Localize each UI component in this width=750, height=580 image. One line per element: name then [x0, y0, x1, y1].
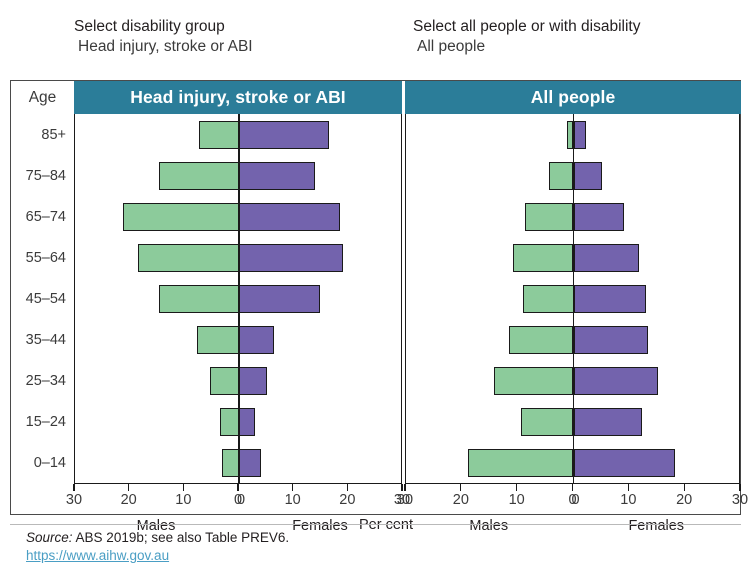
female-bar[interactable] — [239, 408, 255, 436]
disability-group-selector[interactable]: Select disability group Head injury, str… — [74, 17, 253, 57]
pyramid-row — [406, 408, 739, 436]
axis-tick — [516, 484, 517, 491]
axis-tick — [628, 484, 629, 491]
male-bar[interactable] — [468, 449, 574, 477]
male-bar[interactable] — [509, 326, 574, 354]
panel-title-right: All people — [405, 81, 741, 114]
axis-tick-label: 0 — [571, 492, 579, 508]
axis-tick-label: 30 — [397, 492, 413, 508]
x-axis-left: 30201000102030MalesFemales — [11, 484, 403, 496]
pyramid-row — [406, 244, 739, 272]
axis-tick-label: 30 — [66, 492, 82, 508]
axis-tick-label: 10 — [509, 492, 525, 508]
male-bar[interactable] — [210, 367, 239, 395]
males-axis-label: Males — [469, 518, 508, 534]
axis-tick-label: 0 — [237, 492, 245, 508]
pyramid-row — [406, 121, 739, 149]
axis-tick-label: 10 — [285, 492, 301, 508]
chart-page: Select disability group Head injury, str… — [0, 0, 750, 580]
chart-panel-all-people: 30201000102030MalesFemales — [403, 114, 741, 515]
pyramid-row — [406, 326, 739, 354]
female-bar[interactable] — [239, 203, 340, 231]
axis-tick-label: 10 — [175, 492, 191, 508]
pyramid-row — [406, 367, 739, 395]
population-label: Select all people or with disability — [413, 17, 640, 37]
male-bar[interactable] — [220, 408, 239, 436]
female-bar[interactable] — [574, 244, 639, 272]
female-bar[interactable] — [239, 162, 315, 190]
male-bar[interactable] — [197, 326, 239, 354]
female-bar[interactable] — [574, 449, 676, 477]
plot-area-left — [74, 114, 402, 484]
axis-tick — [572, 484, 573, 491]
axis-tick — [73, 484, 74, 491]
pyramid-row — [406, 449, 739, 477]
pyramid-row — [75, 449, 401, 477]
male-bar[interactable] — [521, 408, 573, 436]
female-bar[interactable] — [239, 244, 343, 272]
male-bar[interactable] — [199, 121, 239, 149]
male-bar[interactable] — [123, 203, 239, 231]
source-link[interactable]: https://www.aihw.gov.au — [26, 548, 169, 563]
axis-tick-label: 20 — [676, 492, 692, 508]
axis-tick-label: 10 — [620, 492, 636, 508]
chart-panel-head-injury: 30201000102030MalesFemales — [11, 114, 403, 515]
axis-tick-label: 30 — [732, 492, 748, 508]
pyramid-row — [75, 285, 401, 313]
plot-area-right — [405, 114, 740, 484]
females-axis-label: Females — [628, 518, 684, 534]
source-text: ABS 2019b; see also Table PREV6. — [76, 530, 290, 545]
male-bar[interactable] — [513, 244, 573, 272]
pyramid-row — [75, 367, 401, 395]
source-note: Source: ABS 2019b; see also Table PREV6. — [26, 530, 289, 545]
female-bar[interactable] — [574, 326, 649, 354]
male-bar[interactable] — [494, 367, 573, 395]
age-header: Age — [11, 81, 74, 114]
male-bar[interactable] — [222, 449, 239, 477]
axis-tick — [347, 484, 348, 491]
axis-tick — [739, 484, 740, 491]
disability-group-label: Select disability group — [74, 17, 253, 37]
female-bar[interactable] — [574, 285, 647, 313]
axis-tick — [237, 484, 238, 491]
female-bar[interactable] — [239, 121, 329, 149]
axis-tick — [128, 484, 129, 491]
axis-tick — [404, 484, 405, 491]
female-bar[interactable] — [239, 285, 320, 313]
male-bar[interactable] — [159, 162, 239, 190]
pyramid-row — [75, 244, 401, 272]
pyramid-row — [75, 203, 401, 231]
pyramid-row — [406, 285, 739, 313]
axis-tick-label: 20 — [453, 492, 469, 508]
axis-tick — [460, 484, 461, 491]
axis-tick-label: 20 — [121, 492, 137, 508]
female-bar[interactable] — [239, 367, 267, 395]
pyramid-row — [75, 326, 401, 354]
female-bar[interactable] — [574, 121, 586, 149]
selector-bar: Select disability group Head injury, str… — [0, 0, 750, 74]
axis-tick — [183, 484, 184, 491]
male-bar[interactable] — [523, 285, 573, 313]
pyramid-row — [75, 121, 401, 149]
male-bar[interactable] — [525, 203, 574, 231]
male-bar[interactable] — [159, 285, 239, 313]
pyramid-row — [406, 162, 739, 190]
disability-group-value[interactable]: Head injury, stroke or ABI — [74, 37, 253, 57]
population-selector[interactable]: Select all people or with disability All… — [413, 17, 640, 57]
pyramid-row — [75, 162, 401, 190]
female-bar[interactable] — [574, 203, 624, 231]
panel-title-left: Head injury, stroke or ABI — [74, 81, 402, 114]
female-bar[interactable] — [239, 449, 261, 477]
female-bar[interactable] — [574, 408, 642, 436]
female-bar[interactable] — [239, 326, 274, 354]
male-bar[interactable] — [138, 244, 239, 272]
female-bar[interactable] — [574, 367, 658, 395]
axis-tick-label: 20 — [339, 492, 355, 508]
axis-tick — [684, 484, 685, 491]
female-bar[interactable] — [574, 162, 602, 190]
source-prefix: Source: — [26, 530, 73, 545]
females-axis-label: Females — [292, 518, 348, 534]
pyramid-row — [406, 203, 739, 231]
x-axis-right: 30201000102030MalesFemales — [403, 484, 741, 496]
pyramid-row — [75, 408, 401, 436]
chart-frame: Age Head injury, stroke or ABI All peopl… — [10, 80, 741, 515]
axis-tick — [292, 484, 293, 491]
footer-divider — [10, 524, 741, 525]
per-cent-axis-label: Per cent — [359, 517, 413, 533]
male-bar[interactable] — [549, 162, 573, 190]
population-value[interactable]: All people — [413, 37, 640, 57]
